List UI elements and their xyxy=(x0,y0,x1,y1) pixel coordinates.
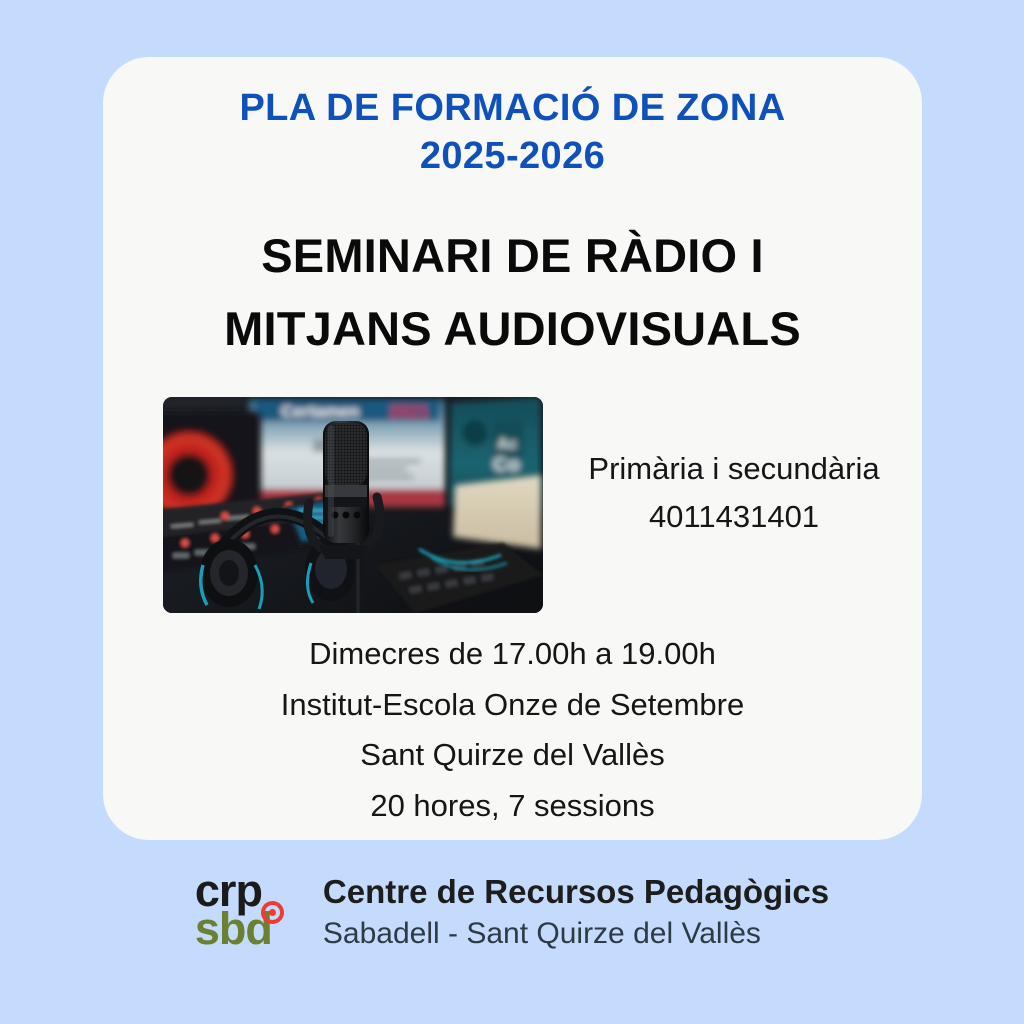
footer: crp sbd Centre de Recursos Pedagògics Sa… xyxy=(0,872,1024,982)
course-code: 4011431401 xyxy=(551,493,917,541)
detail-venue: Institut-Escola Onze de Setembre xyxy=(103,680,922,731)
detail-duration: 20 hores, 7 sessions xyxy=(103,781,922,832)
target-icon xyxy=(261,901,284,924)
radio-studio-photo: Certamen 2021 Ac Co xyxy=(163,397,543,613)
course-title: SEMINARI DE RÀDIO I MITJANS AUDIOVISUALS xyxy=(103,220,922,366)
crp-sbd-logo: crp sbd Centre de Recursos Pedagògics Sa… xyxy=(195,872,829,962)
logo-text-block: Centre de Recursos Pedagògics Sabadell -… xyxy=(323,872,829,952)
programme-heading-line-2: 2025-2026 xyxy=(103,133,922,181)
programme-heading-line-1: PLA DE FORMACIÓ DE ZONA xyxy=(103,85,922,133)
course-details: Dimecres de 17.00h a 19.00h Institut-Esc… xyxy=(103,629,922,831)
detail-schedule: Dimecres de 17.00h a 19.00h xyxy=(103,629,922,680)
audience-block: Primària i secundària 4011431401 xyxy=(551,445,917,541)
detail-town: Sant Quirze del Vallès xyxy=(103,730,922,781)
poster-card: PLA DE FORMACIÓ DE ZONA 2025-2026 SEMINA… xyxy=(103,57,922,840)
organization-name: Centre de Recursos Pedagògics xyxy=(323,872,829,912)
logo-mark: crp sbd xyxy=(195,872,305,962)
programme-heading: PLA DE FORMACIÓ DE ZONA 2025-2026 xyxy=(103,85,922,180)
audience-level: Primària i secundària xyxy=(551,445,917,493)
course-title-line-2: MITJANS AUDIOVISUALS xyxy=(103,293,922,366)
course-title-line-1: SEMINARI DE RÀDIO I xyxy=(103,220,922,293)
organization-place: Sabadell - Sant Quirze del Vallès xyxy=(323,915,829,953)
